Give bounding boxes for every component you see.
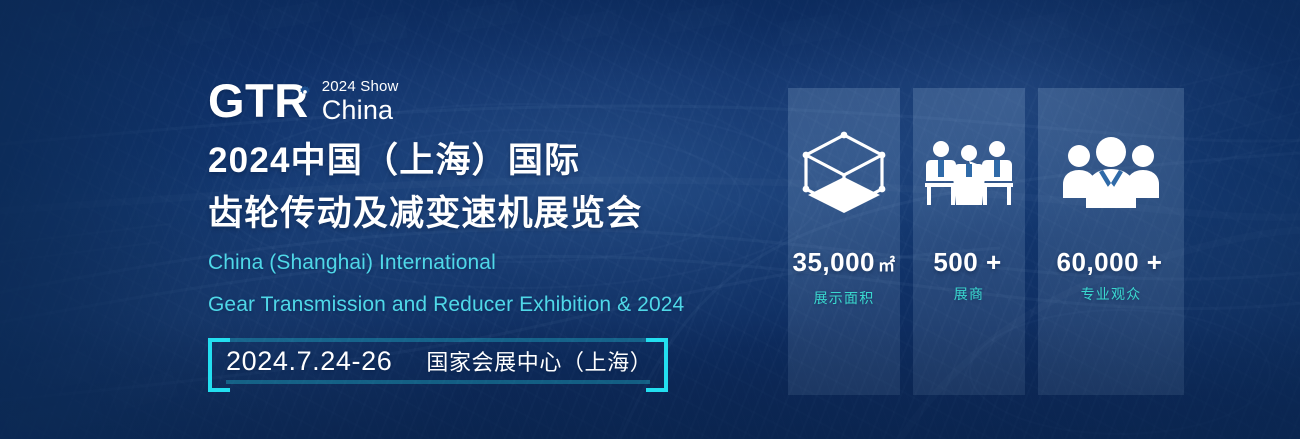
stat-number: 500 + <box>933 248 1001 276</box>
gtr-logo-mark: GTR <box>208 78 309 124</box>
date-venue-box: 2024.7.24-26 国家会展中心（上海） <box>208 338 668 384</box>
event-venue: 国家会展中心（上海） <box>426 345 652 377</box>
box-rule-bottom <box>226 380 650 384</box>
stat-number: 35,000 <box>792 248 875 276</box>
headline-line-1: 2024中国（上海）国际 <box>208 139 748 183</box>
stats-panel-group: 35,000 ㎡ 展示面积 <box>788 88 1184 395</box>
stat-panel-area: 35,000 ㎡ 展示面积 <box>788 88 900 395</box>
gear-icon <box>298 85 312 99</box>
stat-value-visitors: 60,000 + <box>1057 248 1166 276</box>
cube-box-icon <box>796 98 892 248</box>
stat-label-area: 展示面积 <box>814 288 875 308</box>
gtr-logo-year: 2024 Show <box>322 79 399 95</box>
subtitle-line-2: Gear Transmission and Reducer Exhibition… <box>208 290 748 320</box>
stat-value-area: 35,000 ㎡ <box>792 248 895 280</box>
stat-number: 60,000 + <box>1057 248 1163 276</box>
exhibition-banner: GTR 2024 Show China 2024中国（上海）国际 齿轮传动及减变… <box>0 0 1300 439</box>
stat-panel-exhibitors: 500 + 展商 <box>913 88 1025 395</box>
event-date: 2024.7.24-26 <box>226 346 392 377</box>
box-rule-top <box>226 338 650 342</box>
gtr-logo-region: China <box>322 96 399 124</box>
stat-unit: ㎡ <box>878 252 896 280</box>
gtr-logo: GTR 2024 Show China <box>208 78 748 130</box>
visitor-group-icon <box>1061 98 1161 248</box>
exhibitor-booth-people-icon <box>923 98 1015 248</box>
headline-block: GTR 2024 Show China 2024中国（上海）国际 齿轮传动及减变… <box>208 78 748 384</box>
headline-line-2: 齿轮传动及减变速机展览会 <box>208 192 748 236</box>
subtitle-line-1: China (Shanghai) International <box>208 248 748 278</box>
stat-label-visitors: 专业观众 <box>1081 284 1142 304</box>
gtr-logo-sub: 2024 Show China <box>322 78 399 124</box>
gtr-logo-text: GTR <box>208 74 309 127</box>
stat-value-exhibitors: 500 + <box>933 248 1004 276</box>
stat-label-exhibitors: 展商 <box>954 284 984 304</box>
stat-panel-visitors: 60,000 + 专业观众 <box>1038 88 1184 395</box>
